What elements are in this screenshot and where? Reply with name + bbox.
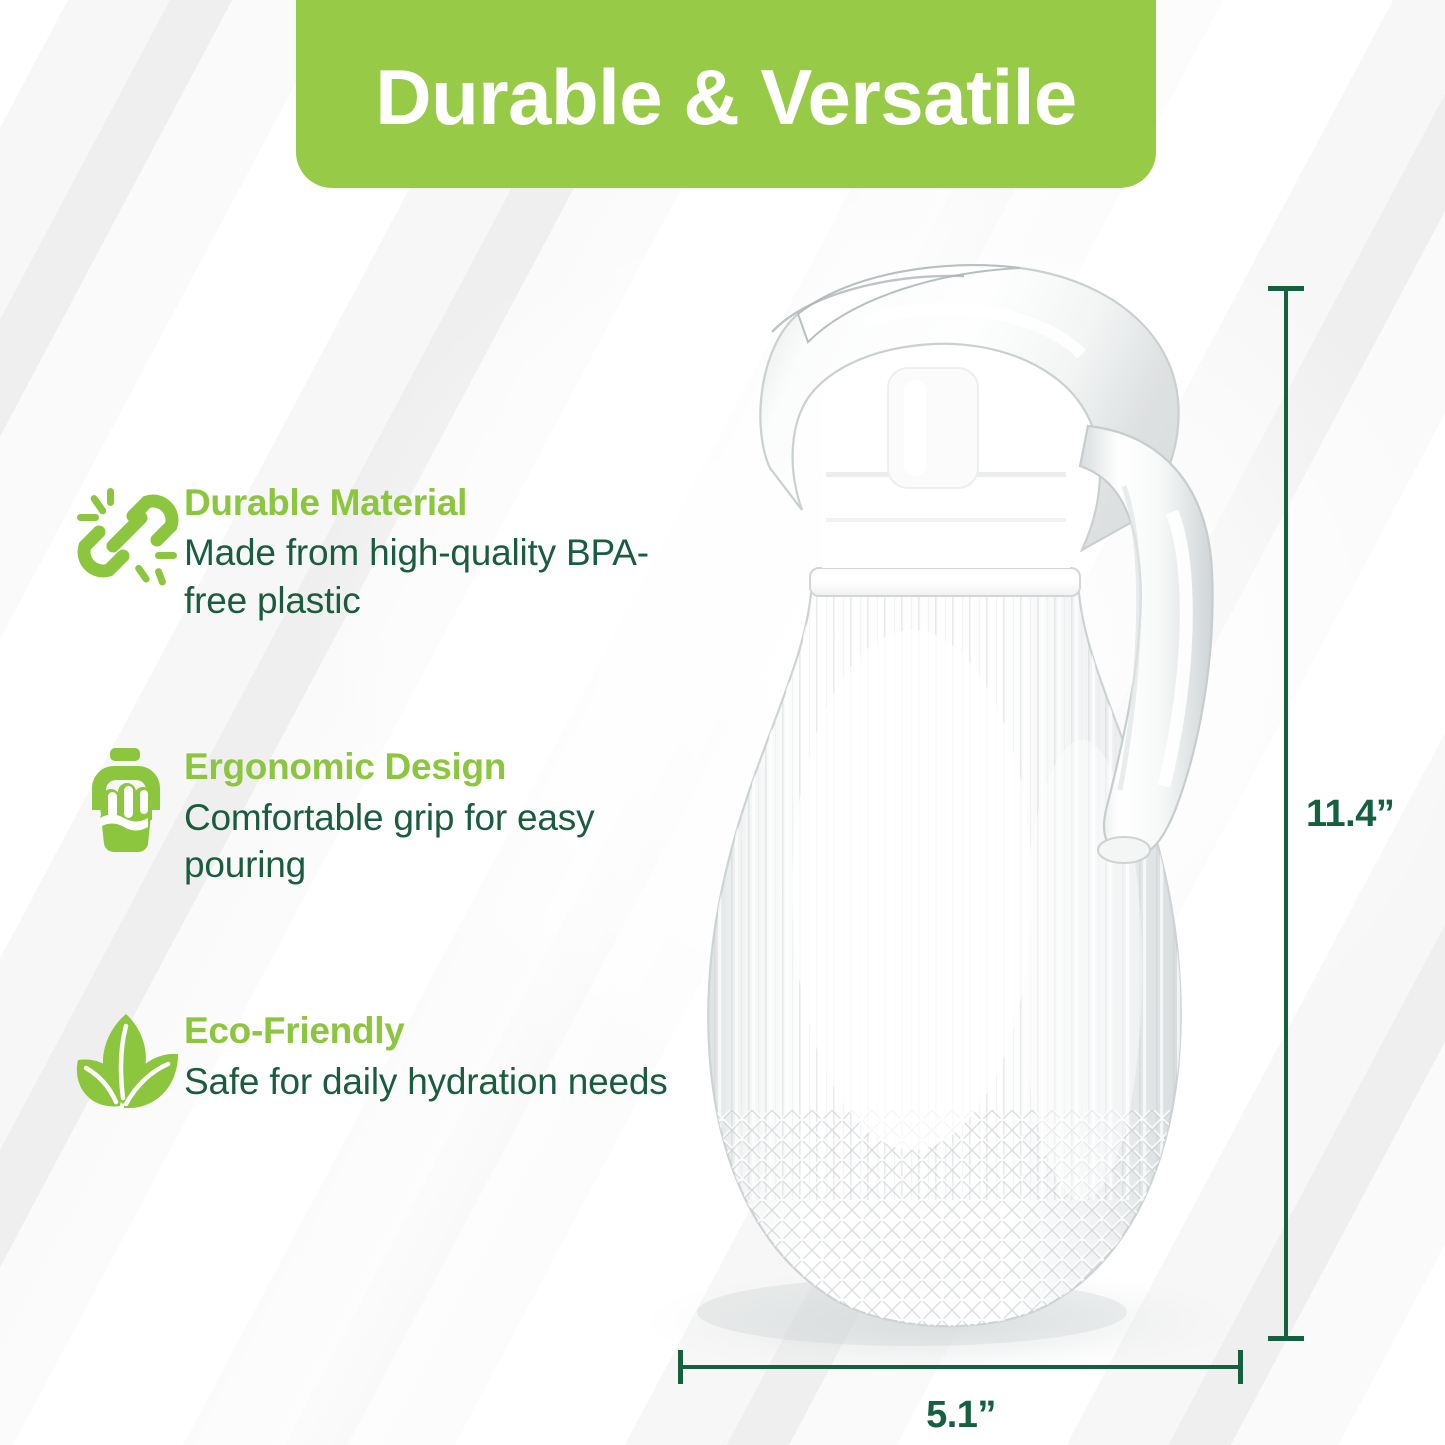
feature-title: Ergonomic Design [184, 746, 672, 787]
hand-grip-icon [72, 742, 184, 858]
product-image [612, 250, 1312, 1390]
height-dimension-cap-bottom [1268, 1336, 1304, 1341]
feature-description: Made from high-quality BPA-free plastic [184, 529, 672, 624]
header-banner: Durable & Versatile [296, 0, 1156, 188]
width-dimension-line [680, 1365, 1242, 1369]
leaves-icon [72, 1006, 184, 1122]
chain-link-icon [72, 478, 184, 594]
feature-text: Ergonomic Design Comfortable grip for ea… [184, 742, 672, 888]
feature-description: Safe for daily hydration needs [184, 1058, 668, 1105]
feature-text: Durable Material Made from high-quality … [184, 478, 672, 624]
feature-description: Comfortable grip for easy pouring [184, 794, 672, 889]
page-title: Durable & Versatile [375, 58, 1077, 136]
feature-item: Eco-Friendly Safe for daily hydration ne… [72, 1006, 672, 1122]
feature-item: Durable Material Made from high-quality … [72, 478, 672, 624]
width-dimension-label: 5.1” [0, 1394, 1445, 1437]
feature-item: Ergonomic Design Comfortable grip for ea… [72, 742, 672, 888]
height-dimension-line [1284, 290, 1288, 1340]
height-dimension-label: 11.4” [1306, 793, 1394, 836]
width-dimension-cap-left [678, 1350, 683, 1384]
width-dimension-cap-right [1238, 1350, 1243, 1384]
height-dimension-cap-top [1268, 286, 1304, 291]
feature-title: Durable Material [184, 482, 672, 523]
feature-list: Durable Material Made from high-quality … [72, 478, 672, 1122]
product-infographic: Durable & Versatile [0, 0, 1445, 1445]
feature-text: Eco-Friendly Safe for daily hydration ne… [184, 1006, 668, 1105]
feature-title: Eco-Friendly [184, 1010, 668, 1051]
